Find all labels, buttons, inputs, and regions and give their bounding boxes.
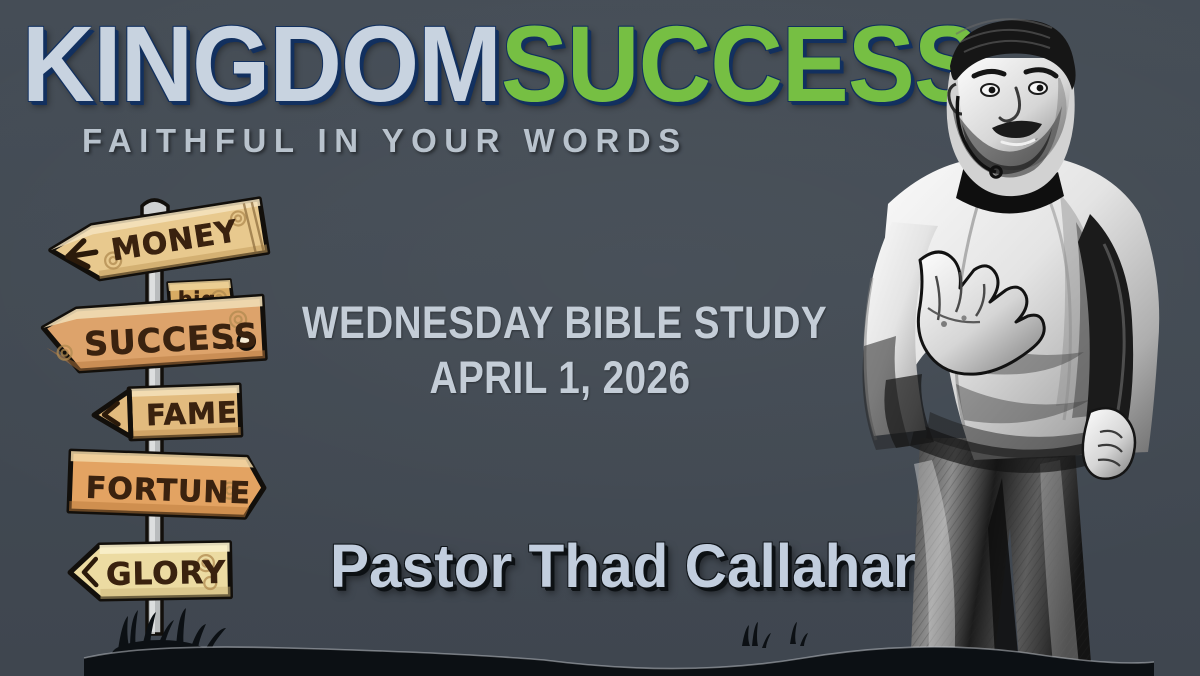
- event-date: APRIL 1, 2026: [302, 351, 818, 406]
- promo-graphic: KINGDOMSUCCESS FAITHFUL IN YOUR WORDS .i…: [0, 0, 1200, 676]
- event-title: WEDNESDAY BIBLE STUDY: [302, 296, 818, 351]
- svg-text:FORTUNE: FORTUNE: [85, 471, 251, 512]
- logo-wordmark: KINGDOMSUCCESS: [22, 10, 822, 118]
- svg-text:GLORY: GLORY: [106, 555, 227, 593]
- logo-word-kingdom: KINGDOM: [22, 3, 501, 124]
- logo-tagline: FAITHFUL IN YOUR WORDS: [82, 122, 882, 160]
- pastor-portrait: [824, 8, 1200, 676]
- logo-block: KINGDOMSUCCESS FAITHFUL IN YOUR WORDS: [22, 10, 882, 160]
- signpost-illustration: .ink { stroke:#120f0b; stroke-width:5; s…: [34, 192, 284, 652]
- svg-text:FAME: FAME: [146, 395, 239, 432]
- event-details: WEDNESDAY BIBLE STUDY APRIL 1, 2026: [260, 296, 860, 406]
